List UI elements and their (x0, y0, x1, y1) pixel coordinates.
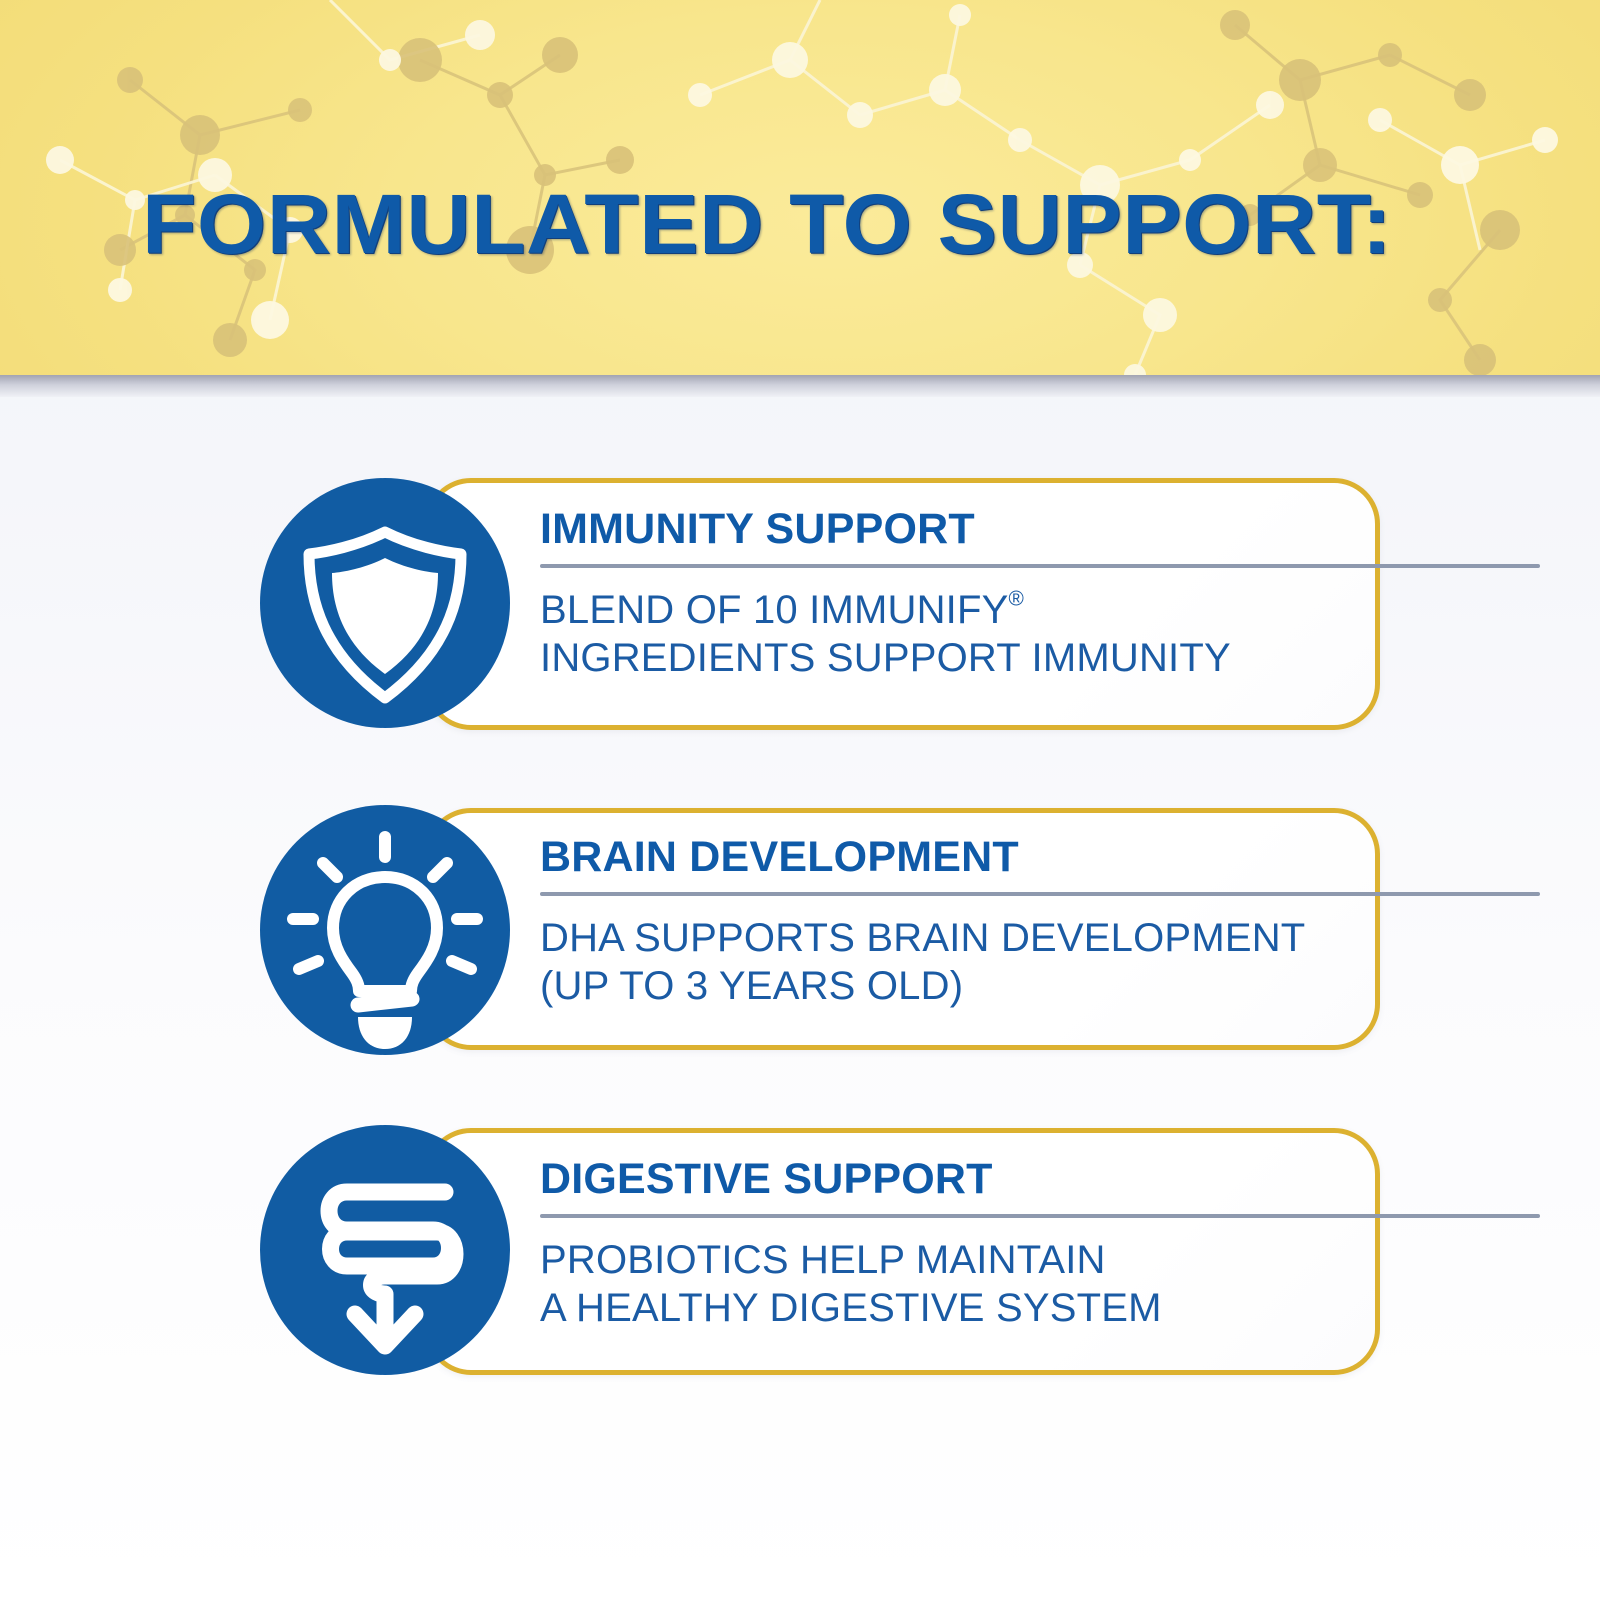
banner-drop-shadow (0, 375, 1600, 397)
benefit-heading: BRAIN DEVELOPMENT (540, 836, 1540, 880)
benefit-description: PROBIOTICS HELP MAINTAIN A HEALTHY DIGES… (540, 1236, 1540, 1332)
page-title: FORMULATED TO SUPPORT: (142, 182, 1392, 266)
heading-divider (540, 1214, 1540, 1218)
benefit-description-line-2: A HEALTHY DIGESTIVE SYSTEM (540, 1286, 1162, 1330)
shield-icon (260, 478, 510, 728)
benefit-description-line-1: DHA SUPPORTS BRAIN DEVELOPMENT (540, 916, 1305, 960)
heading-divider (540, 892, 1540, 896)
benefit-text-brain: BRAIN DEVELOPMENT DHA SUPPORTS BRAIN DEV… (540, 836, 1540, 1010)
benefit-description-line-1: BLEND OF 10 IMMUNIFY (540, 588, 1009, 632)
infographic-root: FORMULATED TO SUPPORT: IMMUNITY SUPPORT … (0, 0, 1600, 1600)
benefit-description-line-2: (UP TO 3 YEARS OLD) (540, 964, 963, 1008)
banner: FORMULATED TO SUPPORT: (0, 0, 1600, 375)
benefit-description-line-2: INGREDIENTS SUPPORT IMMUNITY (540, 636, 1231, 680)
registered-mark: ® (1009, 587, 1024, 610)
benefit-text-digestive: DIGESTIVE SUPPORT PROBIOTICS HELP MAINTA… (540, 1158, 1540, 1332)
benefit-description-line-1: PROBIOTICS HELP MAINTAIN (540, 1238, 1106, 1282)
intestine-icon (260, 1125, 510, 1375)
benefit-description: BLEND OF 10 IMMUNIFY® INGREDIENTS SUPPOR… (540, 586, 1540, 682)
heading-divider (540, 564, 1540, 568)
benefit-heading: IMMUNITY SUPPORT (540, 508, 1540, 552)
benefit-description: DHA SUPPORTS BRAIN DEVELOPMENT (UP TO 3 … (540, 914, 1540, 1010)
benefit-heading: DIGESTIVE SUPPORT (540, 1158, 1540, 1202)
lightbulb-icon (260, 805, 510, 1055)
benefit-text-immunity: IMMUNITY SUPPORT BLEND OF 10 IMMUNIFY® I… (540, 508, 1540, 682)
